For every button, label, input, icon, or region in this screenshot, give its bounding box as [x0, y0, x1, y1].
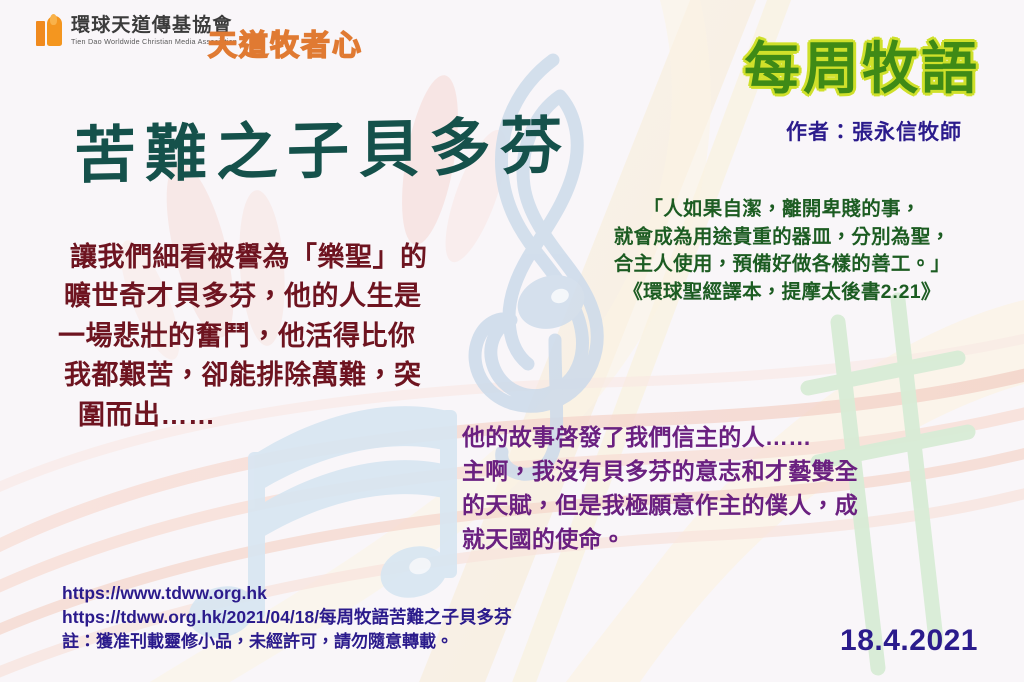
scripture-line: 「人如果自潔，離開卑賤的事，	[562, 196, 1002, 224]
lead-line: 一場悲壯的奮鬥，他活得比你	[58, 317, 532, 356]
article-title: 苦難之子貝多芬	[74, 95, 571, 195]
reflection-paragraph: 他的故事啓發了我們信主的人…… 主啊，我沒有貝多芬的意志和才藝雙全 的天賦，但是…	[462, 420, 932, 556]
footer-block: https://www.tdww.org.hk https://tdww.org…	[62, 582, 512, 653]
copyright-note: 註：獲准刊載靈修小品，未經許可，請勿隨意轉載。	[62, 630, 512, 653]
lead-line: 曠世奇才貝多芬，他的人生是	[64, 277, 532, 316]
scripture-line: 合主人使用，預備好做各樣的善工。」	[562, 251, 1002, 279]
reflection-line: 他的故事啓發了我們信主的人……	[462, 420, 932, 454]
author-byline: 作者：張永信牧師	[786, 116, 962, 146]
poster-canvas: 環球天道傳基協會 Tien Dao Worldwide Christian Me…	[0, 0, 1024, 682]
scripture-reference: 《環球聖經譯本，提摩太後書2:21》	[562, 279, 1002, 307]
reflection-line: 的天賦，但是我極願意作主的僕人，成	[462, 488, 932, 522]
lead-line: 讓我們細看被譽為「樂聖」的	[70, 238, 532, 277]
brand-subtitle: 天道牧者心	[208, 22, 363, 64]
scripture-line: 就會成為用途貴重的器皿，分別為聖，	[562, 224, 1002, 252]
lead-line: 我都艱苦，卻能排除萬難，突	[64, 356, 532, 395]
scripture-quote: 「人如果自潔，離開卑賤的事， 就會成為用途貴重的器皿，分別為聖， 合主人使用，預…	[562, 196, 1002, 307]
lead-paragraph: 讓我們細看被譽為「樂聖」的 曠世奇才貝多芬，他的人生是 一場悲壯的奮鬥，他活得比…	[62, 238, 532, 435]
publication-date: 18.4.2021	[840, 624, 978, 658]
reflection-line: 主啊，我沒有貝多芬的意志和才藝雙全	[462, 454, 932, 488]
article-url-link[interactable]: https://tdww.org.hk/2021/04/18/每周牧語苦難之子貝…	[62, 606, 512, 630]
reflection-line: 就天國的使命。	[462, 522, 932, 556]
association-logo: 環球天道傳基協會 Tien Dao Worldwide Christian Me…	[36, 16, 237, 46]
site-url-link[interactable]: https://www.tdww.org.hk	[62, 582, 512, 606]
masthead-title: 每周牧語	[744, 24, 980, 105]
tdww-flame-logo-icon	[36, 16, 62, 46]
